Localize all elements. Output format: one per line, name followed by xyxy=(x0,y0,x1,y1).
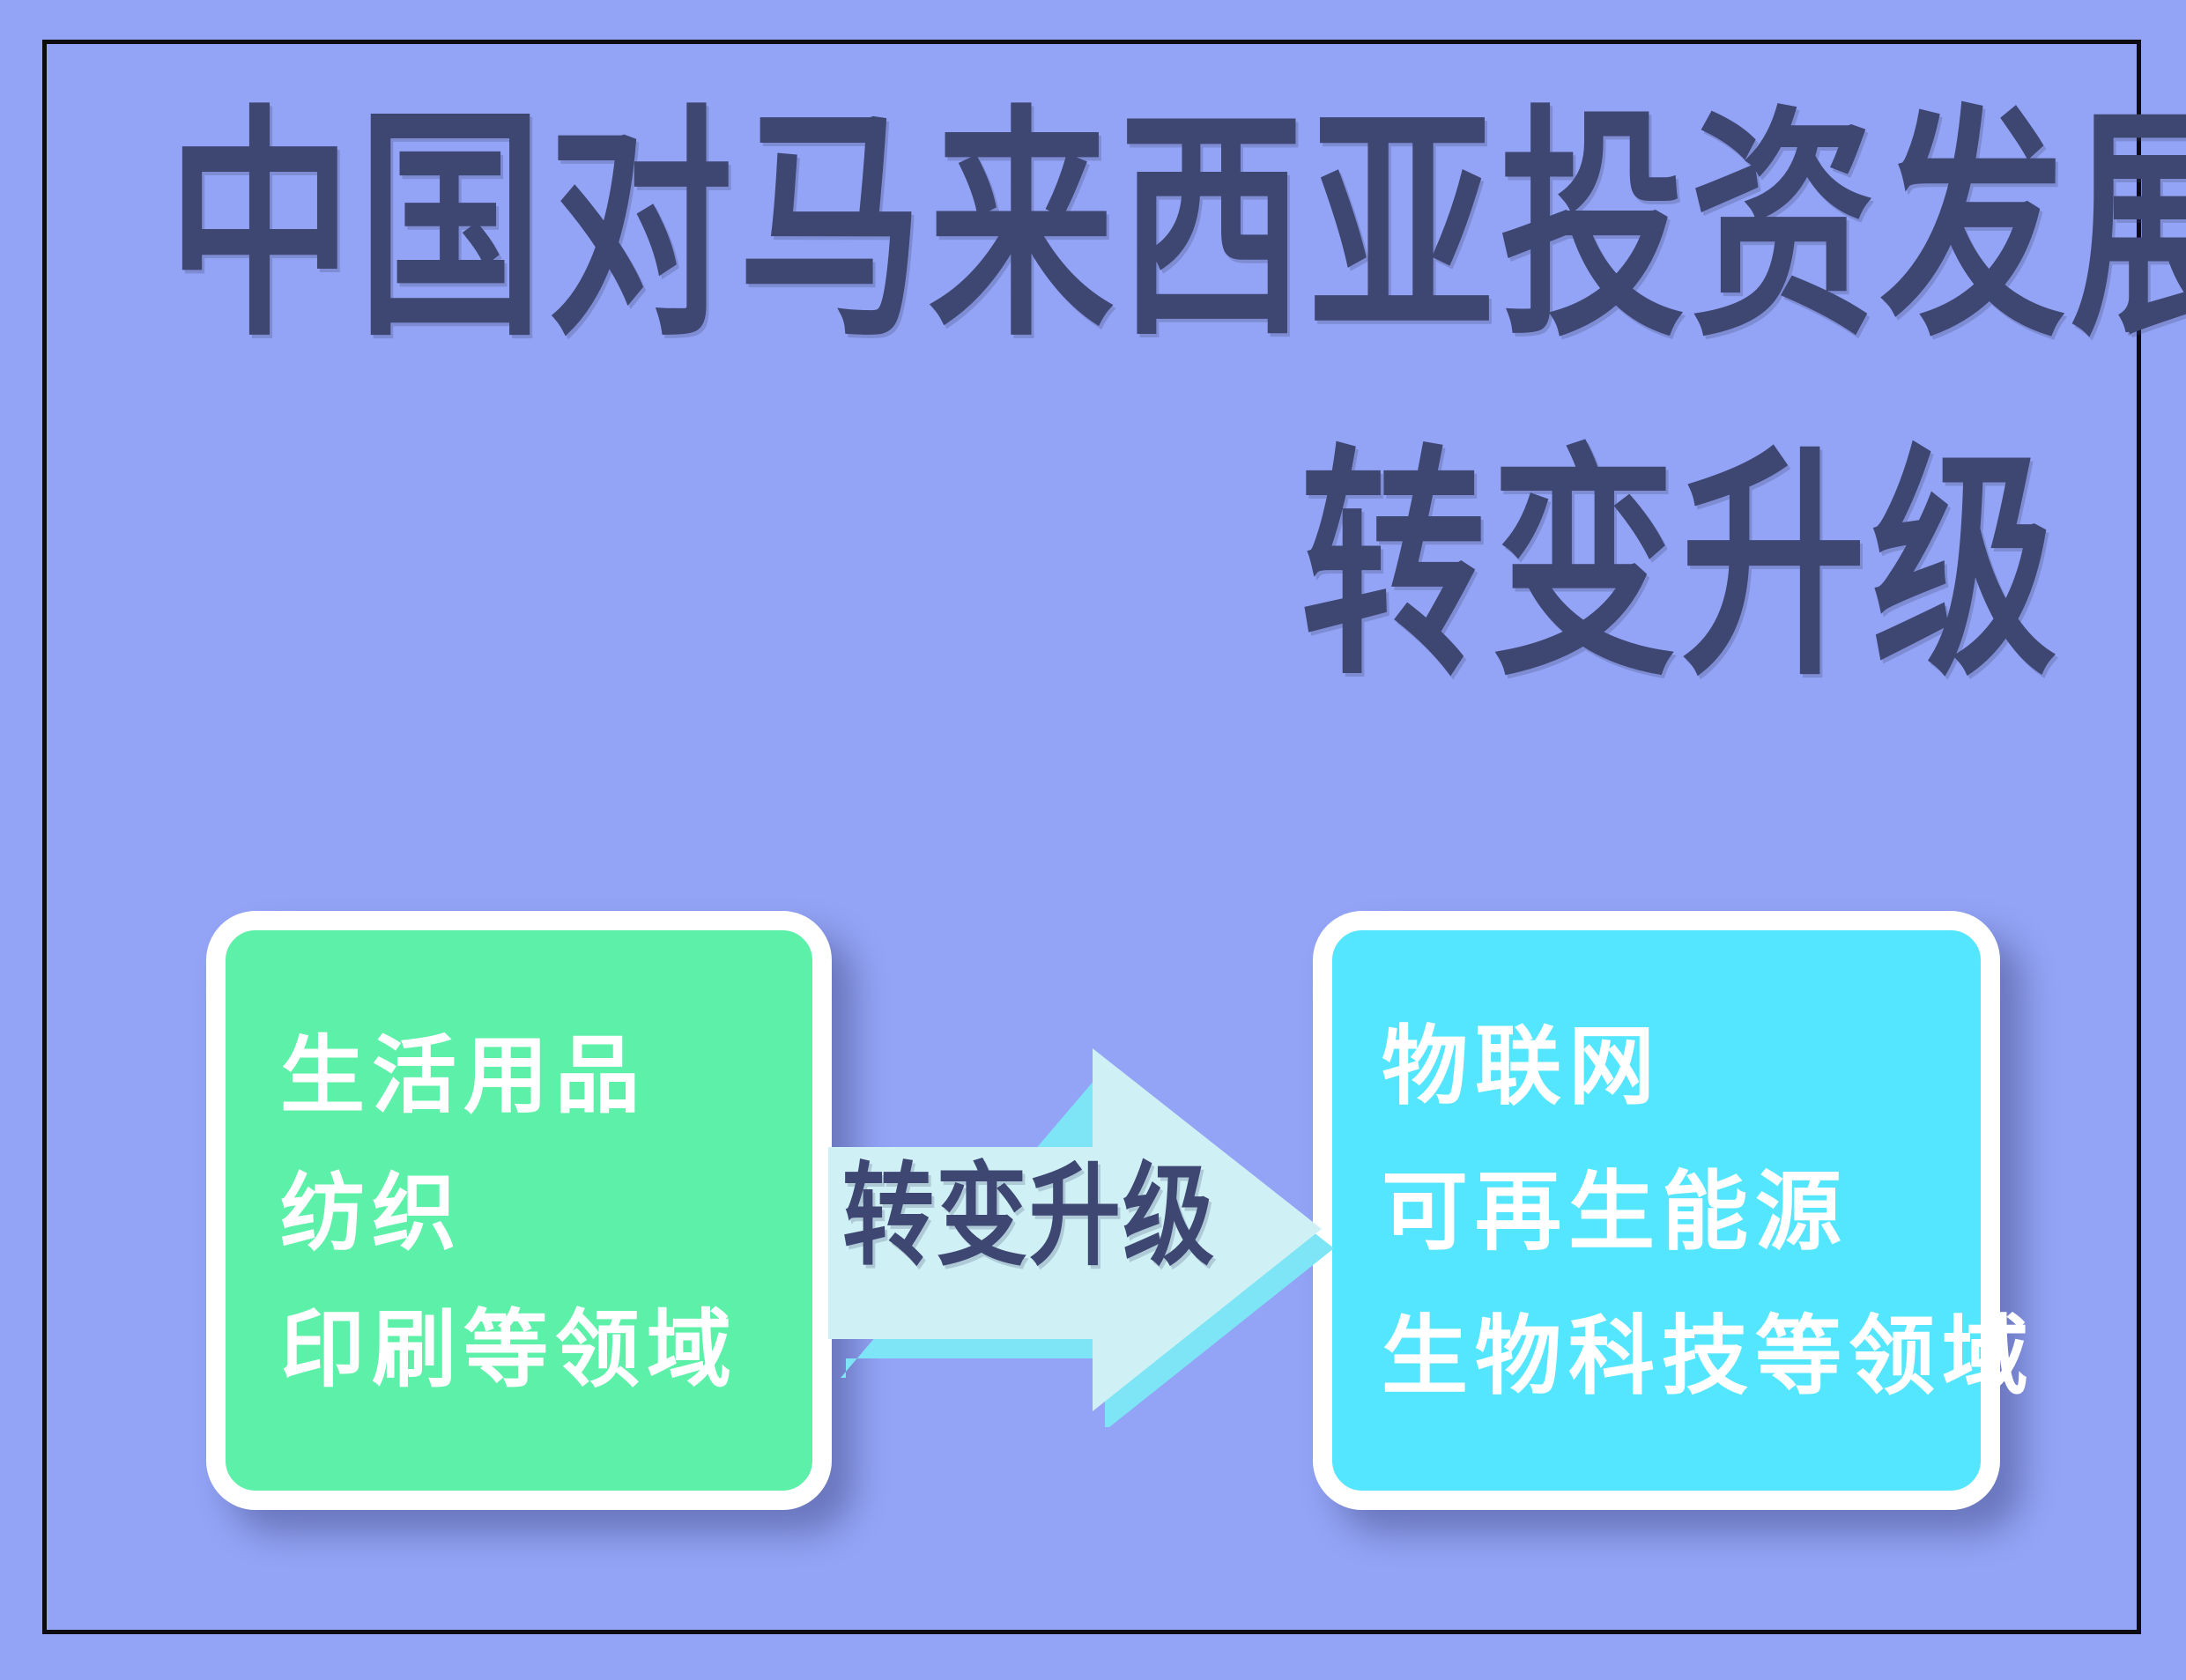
arrow-label: 转变升级 xyxy=(842,1161,1195,1273)
transition-arrow-group: 转变升级 xyxy=(828,1013,1339,1427)
from-sectors-card: 生活用品 纺织 印刷等领域 xyxy=(206,911,832,1510)
to-sectors-card: 物联网 可再生能源 生物科技等领域 xyxy=(1313,911,2000,1510)
from-sectors-text: 生活用品 纺织 印刷等领域 xyxy=(280,1008,812,1419)
from-sector-line-2: 纺织 xyxy=(280,1145,812,1283)
title-line-1: 中国对马来西亚投资发展 xyxy=(167,106,2062,350)
to-sector-line-3: 生物科技等领域 xyxy=(1382,1284,1981,1429)
from-sector-line-1: 生活用品 xyxy=(280,1008,812,1145)
to-sector-line-2: 可再生能源 xyxy=(1382,1139,1981,1284)
to-sectors-text: 物联网 可再生能源 生物科技等领域 xyxy=(1382,994,1981,1429)
page-title: 中国对马来西亚投资发展 转变升级 xyxy=(115,106,2062,630)
infographic-canvas: 中国对马来西亚投资发展 转变升级 生活用品 纺织 印刷等领域 物联网 可再生能源… xyxy=(0,0,2186,1680)
to-sector-line-1: 物联网 xyxy=(1382,994,1981,1139)
title-line-2: 转变升级 xyxy=(115,445,2062,689)
from-sector-line-3: 印刷等领域 xyxy=(280,1282,812,1419)
